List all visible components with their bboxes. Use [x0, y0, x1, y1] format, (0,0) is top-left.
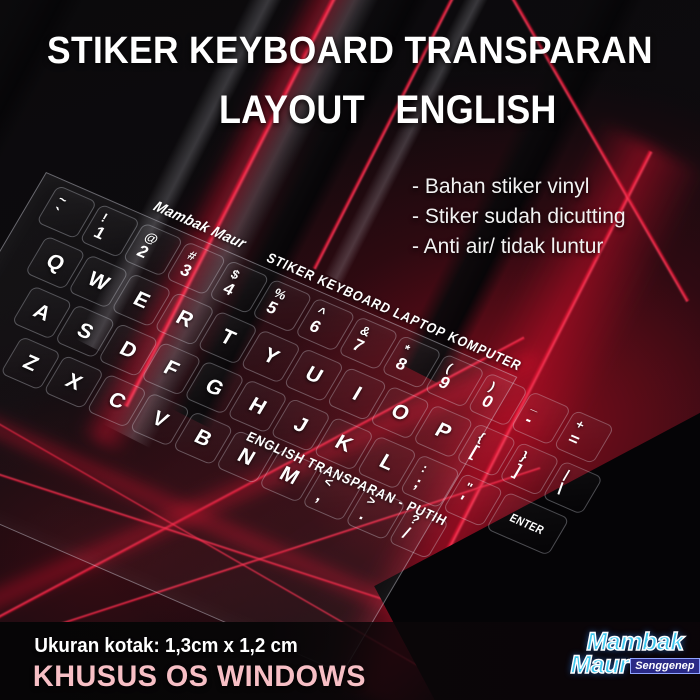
key-label: X	[62, 370, 86, 394]
key-label: J	[290, 414, 311, 437]
feature-item: - Stiker sudah dicutting	[412, 202, 698, 232]
key-label: O	[387, 400, 413, 425]
page-title-layout-word: LAYOUT	[219, 88, 365, 132]
key-label: W	[84, 268, 113, 294]
key-base-label: .	[356, 505, 371, 524]
key-label: A	[30, 300, 55, 324]
brand-logo-line2: Maur	[570, 654, 628, 677]
brand-logo-tag: Senggenep	[630, 658, 699, 674]
key-base-label: ,	[312, 486, 327, 505]
key-base-label: 2	[133, 242, 152, 263]
key-base-label: ;	[410, 473, 425, 493]
key-label: ENTER	[508, 511, 548, 537]
key-label: S	[73, 319, 97, 343]
key-base-label: [	[466, 442, 481, 462]
page-title-english-word: ENGLISH	[395, 88, 556, 132]
key-label: H	[245, 394, 270, 418]
key-base-label: \	[553, 480, 568, 499]
key-base-label: 8	[392, 354, 411, 375]
key-base-label: 3	[176, 260, 195, 281]
key-label: I	[349, 384, 365, 405]
key-base-label: 9	[435, 373, 454, 394]
product-banner: STIKER KEYBOARD TRANSPARAN LAYOUT ENGLIS…	[0, 0, 700, 700]
key-label: Y	[259, 345, 283, 369]
page-title-primary: STIKER KEYBOARD TRANSPARAN	[25, 30, 676, 73]
key-base-label: -	[521, 410, 536, 430]
key-label: T	[216, 326, 239, 349]
key-base-label: ]	[510, 461, 525, 481]
key-label: E	[130, 288, 154, 312]
key-base-label: =	[564, 429, 583, 450]
key-label: P	[431, 420, 455, 444]
key-label: V	[148, 408, 172, 432]
key-base-label: 5	[262, 298, 281, 319]
product-size-text: Ukuran kotak: 1,3cm x 1,2 cm	[34, 635, 297, 658]
key-base-label: 0	[478, 391, 497, 412]
key-label: Z	[19, 352, 42, 375]
feature-list: - Bahan stiker vinyl - Stiker sudah dicu…	[412, 172, 698, 262]
page-title-secondary: LAYOUT ENGLISH	[35, 88, 665, 133]
key-label: R	[172, 307, 197, 331]
key-base-label: `	[47, 204, 62, 224]
feature-item: - Bahan stiker vinyl	[412, 172, 698, 202]
brand-logo-row2: Maur Senggenep	[570, 654, 699, 677]
feature-item: - Anti air/ tidak luntur	[412, 232, 698, 262]
key-label: G	[202, 375, 228, 400]
key-label: U	[302, 363, 327, 387]
key-base-label: 4	[219, 279, 238, 300]
key-base-label: 6	[305, 317, 324, 338]
key-label: K	[331, 432, 356, 456]
key-label: B	[191, 426, 216, 450]
key-base-label: 1	[90, 223, 109, 244]
key-base-label: /	[399, 524, 414, 543]
key-base-label: '	[453, 492, 467, 511]
brand-logo[interactable]: Mambak Maur Senggenep	[576, 616, 694, 692]
key-label: D	[116, 338, 141, 362]
key-label: M	[276, 463, 303, 488]
key-label: L	[376, 451, 399, 474]
key-label: F	[160, 357, 183, 380]
key-label: N	[234, 445, 259, 469]
os-compatibility-text: KHUSUS OS WINDOWS	[33, 660, 366, 694]
key-label: Q	[42, 250, 68, 275]
key-base-label: 7	[349, 335, 368, 356]
key-label: C	[105, 389, 130, 413]
